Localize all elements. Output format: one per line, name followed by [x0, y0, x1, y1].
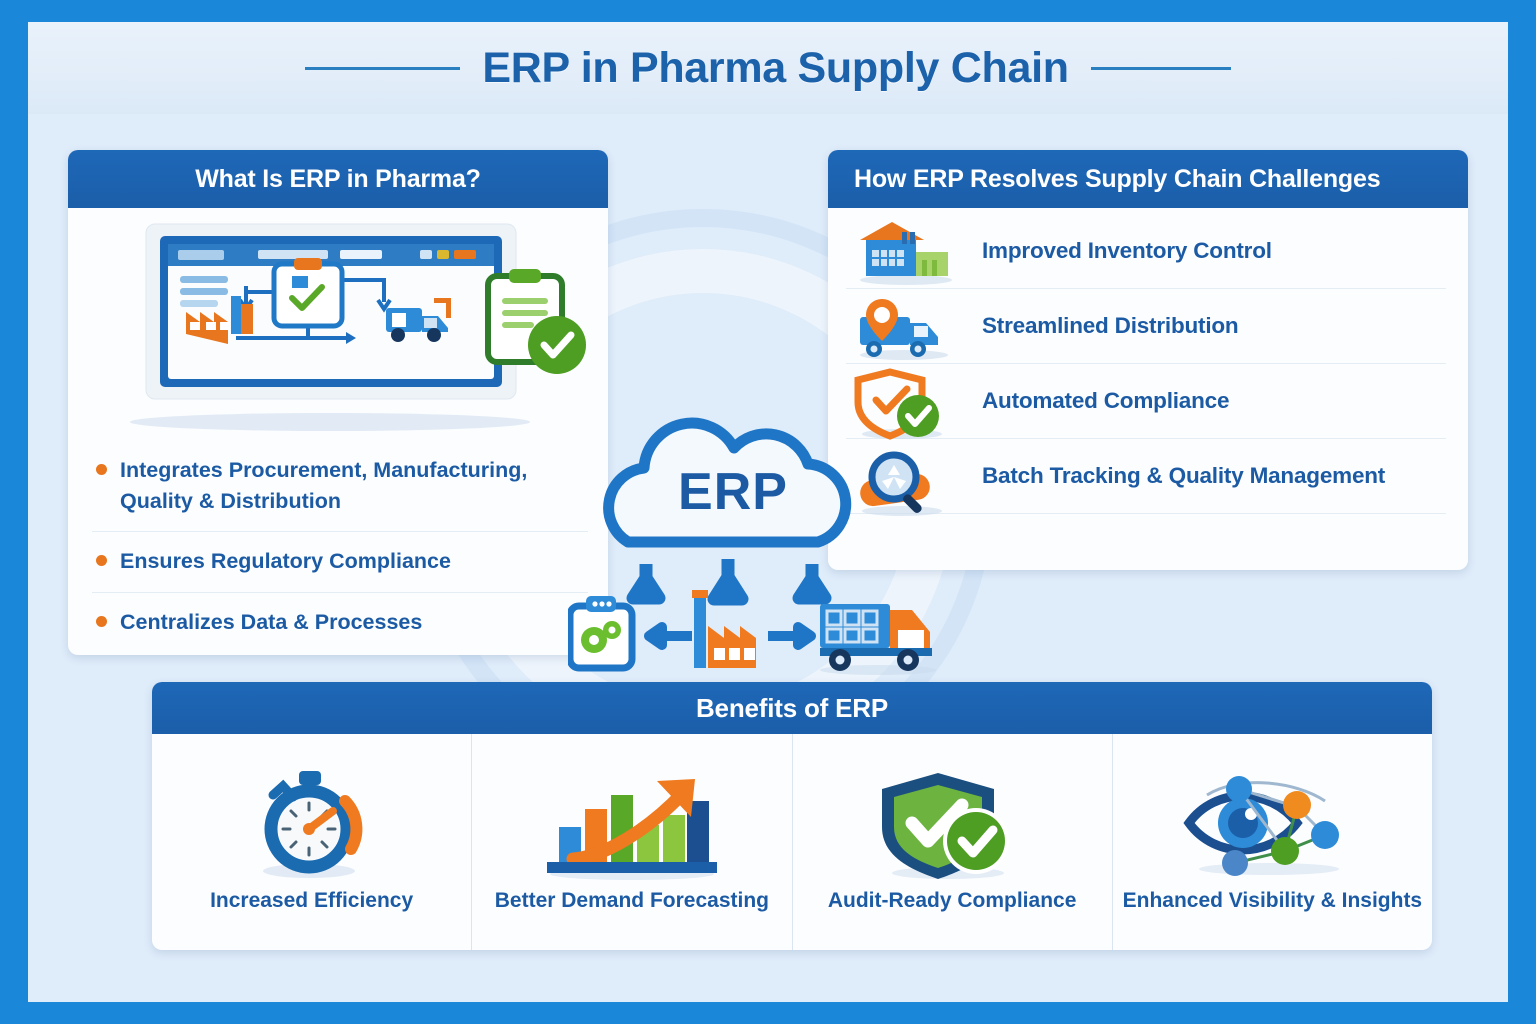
benefit-item: Enhanced Visibility & Insights	[1113, 734, 1432, 950]
benefit-item: Increased Efficiency	[152, 734, 472, 950]
what-is-erp-bullets: Integrates Procurement, Manufacturing, Q…	[68, 439, 608, 652]
benefits-grid: Increased Efficiency	[152, 734, 1432, 950]
erp-dashboard-monitor-icon	[68, 214, 608, 439]
challenges-heading: How ERP Resolves Supply Chain Challenges	[828, 150, 1468, 208]
erp-cloud-flow-diagram	[568, 414, 968, 679]
shield-double-check-icon	[872, 765, 1032, 883]
challenge-row: Streamlined Distribution	[846, 289, 1446, 364]
bullet-dot-icon	[96, 616, 107, 627]
infographic-frame: ERP in Pharma Supply Chain What Is ERP i…	[28, 22, 1508, 1002]
page-title: ERP in Pharma Supply Chain	[482, 44, 1068, 93]
what-is-erp-heading: What Is ERP in Pharma?	[68, 150, 608, 208]
benefit-label: Enhanced Visibility & Insights	[1123, 889, 1423, 913]
challenge-row: Improved Inventory Control	[846, 214, 1446, 289]
delivery-truck-pin-icon	[846, 291, 964, 361]
what-is-erp-body: Integrates Procurement, Manufacturing, Q…	[68, 214, 608, 652]
warehouse-icon	[846, 216, 964, 286]
benefit-label: Audit-Ready Compliance	[828, 889, 1077, 913]
bullet-label: Centralizes Data & Processes	[120, 607, 422, 638]
benefits-heading: Benefits of ERP	[152, 682, 1432, 734]
title-rule-right	[1091, 67, 1231, 70]
challenge-label: Improved Inventory Control	[982, 238, 1272, 264]
benefit-label: Increased Efficiency	[210, 889, 413, 913]
erp-cloud-label: ERP	[568, 462, 898, 522]
bullet-item: Ensures Regulatory Compliance	[92, 532, 588, 592]
erp-hub: ERP	[568, 414, 968, 679]
growth-bar-chart-icon	[537, 765, 727, 883]
challenge-label: Streamlined Distribution	[982, 313, 1238, 339]
bullet-dot-icon	[96, 555, 107, 566]
eye-network-icon	[1177, 765, 1367, 883]
title-rule-left	[305, 67, 460, 70]
bullet-item: Integrates Procurement, Manufacturing, Q…	[92, 441, 588, 532]
bullet-label: Ensures Regulatory Compliance	[120, 546, 451, 577]
bullet-dot-icon	[96, 464, 107, 475]
bullet-label: Integrates Procurement, Manufacturing, Q…	[120, 455, 584, 517]
what-is-erp-card: What Is ERP in Pharma?	[68, 150, 608, 655]
benefits-card: Benefits of ERP	[152, 682, 1432, 950]
challenge-label: Batch Tracking & Quality Management	[982, 463, 1385, 489]
benefit-item: Better Demand Forecasting	[472, 734, 792, 950]
bullet-item: Centralizes Data & Processes	[92, 593, 588, 652]
challenge-label: Automated Compliance	[982, 388, 1229, 414]
stopwatch-icon	[247, 765, 377, 883]
benefit-label: Better Demand Forecasting	[495, 889, 769, 913]
title-band: ERP in Pharma Supply Chain	[28, 22, 1508, 114]
benefit-item: Audit-Ready Compliance	[793, 734, 1113, 950]
